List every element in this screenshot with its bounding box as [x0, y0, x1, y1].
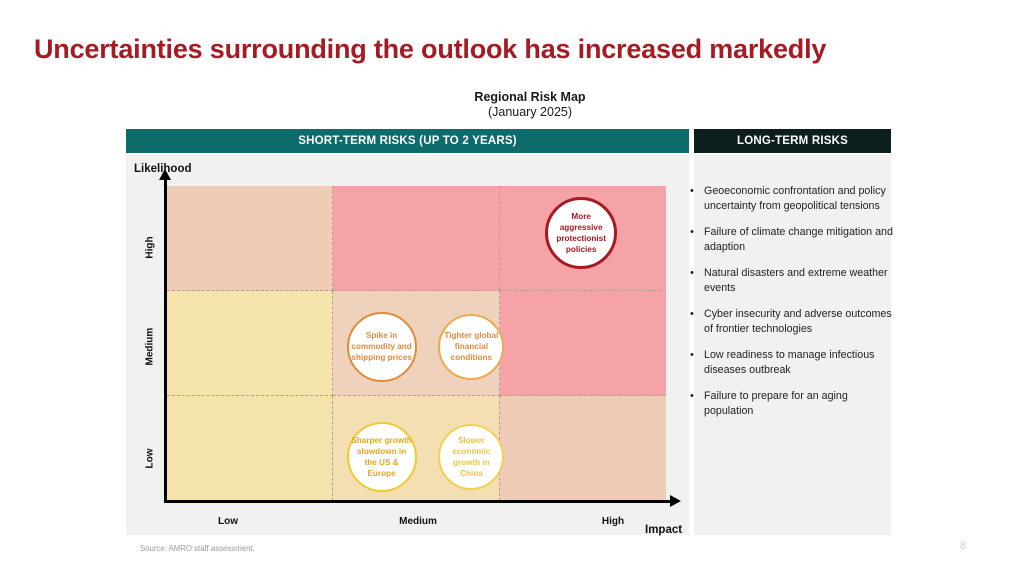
y-axis-line: [164, 178, 167, 503]
long-term-risks-list: •Geoeconomic confrontation and policy un…: [690, 184, 895, 430]
list-item: •Natural disasters and extreme weather e…: [690, 266, 895, 295]
list-item: •Geoeconomic confrontation and policy un…: [690, 184, 895, 213]
chart-subtitle: (January 2025): [330, 105, 730, 120]
list-item: •Failure to prepare for an aging populat…: [690, 389, 895, 418]
page-number: 8: [960, 540, 966, 552]
risk-bubble[interactable]: More aggressive protectionist policies: [545, 197, 617, 269]
list-item-label: Failure to prepare for an aging populati…: [704, 389, 895, 418]
chart-heading: Regional Risk Map (January 2025): [330, 90, 730, 120]
y-tick-medium: Medium: [145, 342, 156, 366]
y-tick-high: High: [145, 236, 156, 260]
source-note: Source: AMRO staff assessment.: [140, 544, 255, 553]
x-tick-medium: Medium: [363, 516, 473, 527]
list-item-label: Geoeconomic confrontation and policy unc…: [704, 184, 895, 213]
risk-bubble[interactable]: Sharper growth slowdown in the US & Euro…: [347, 422, 417, 492]
bullet-icon: •: [690, 348, 704, 377]
bullet-icon: •: [690, 266, 704, 295]
bullet-icon: •: [690, 225, 704, 254]
bullet-icon: •: [690, 184, 704, 213]
x-tick-low: Low: [173, 516, 283, 527]
list-item: •Failure of climate change mitigation an…: [690, 225, 895, 254]
risk-cell-medium-high: [333, 186, 499, 291]
list-item: •Cyber insecurity and adverse outcomes o…: [690, 307, 895, 336]
risk-bubble[interactable]: Tighter global financial conditions: [438, 314, 504, 380]
list-item-label: Failure of climate change mitigation and…: [704, 225, 895, 254]
list-item-label: Cyber insecurity and adverse outcomes of…: [704, 307, 895, 336]
bullet-icon: •: [690, 307, 704, 336]
x-axis-arrow-icon: [670, 495, 681, 507]
chart-title: Regional Risk Map: [330, 90, 730, 105]
short-term-risks-header: SHORT-TERM RISKS (UP TO 2 YEARS): [126, 129, 689, 153]
risk-cell-high-low: [500, 396, 666, 501]
risk-bubble[interactable]: Slower economic growth in China: [438, 424, 504, 490]
y-tick-low: Low: [145, 447, 156, 471]
risk-cell-low-high: [167, 186, 333, 291]
list-item-label: Low readiness to manage infectious disea…: [704, 348, 895, 377]
page-title: Uncertainties surrounding the outlook ha…: [34, 34, 984, 65]
long-term-risks-header: LONG-TERM RISKS: [694, 129, 891, 153]
risk-bubble[interactable]: Spike in commodity and shipping prices: [347, 312, 417, 382]
bullet-icon: •: [690, 389, 704, 418]
list-item: •Low readiness to manage infectious dise…: [690, 348, 895, 377]
risk-matrix-grid: More aggressive protectionist policiesSp…: [167, 186, 666, 501]
x-axis-line: [164, 500, 672, 503]
list-item-label: Natural disasters and extreme weather ev…: [704, 266, 895, 295]
x-axis-title: Impact: [645, 524, 682, 536]
risk-cell-high-medium: [500, 291, 666, 396]
y-axis-arrow-icon: [159, 169, 171, 180]
risk-cell-low-medium: [167, 291, 333, 396]
risk-cell-low-low: [167, 396, 333, 501]
